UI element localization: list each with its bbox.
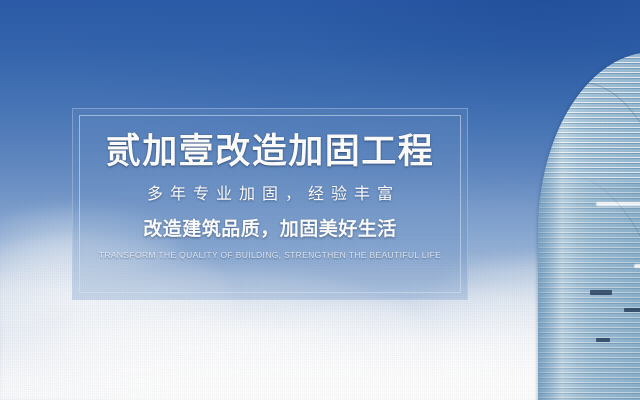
skyscraper-body [538,52,640,400]
banner-slogan: 改造建筑品质，加固美好生活 [143,220,397,239]
skyscraper-photo [494,0,640,400]
banner-title: 贰加壹改造加固工程 [106,134,435,169]
promo-banner: 贰加壹改造加固工程 多年专业加固，经验丰富 改造建筑品质，加固美好生活 TRAN… [0,0,640,400]
banner-text-block: 贰加壹改造加固工程 多年专业加固，经验丰富 改造建筑品质，加固美好生活 TRAN… [72,108,468,300]
banner-tagline: TRANSFORM THE QUALITY OF BUILDING, STREN… [99,251,441,260]
banner-subtitle: 多年专业加固，经验丰富 [140,187,400,203]
